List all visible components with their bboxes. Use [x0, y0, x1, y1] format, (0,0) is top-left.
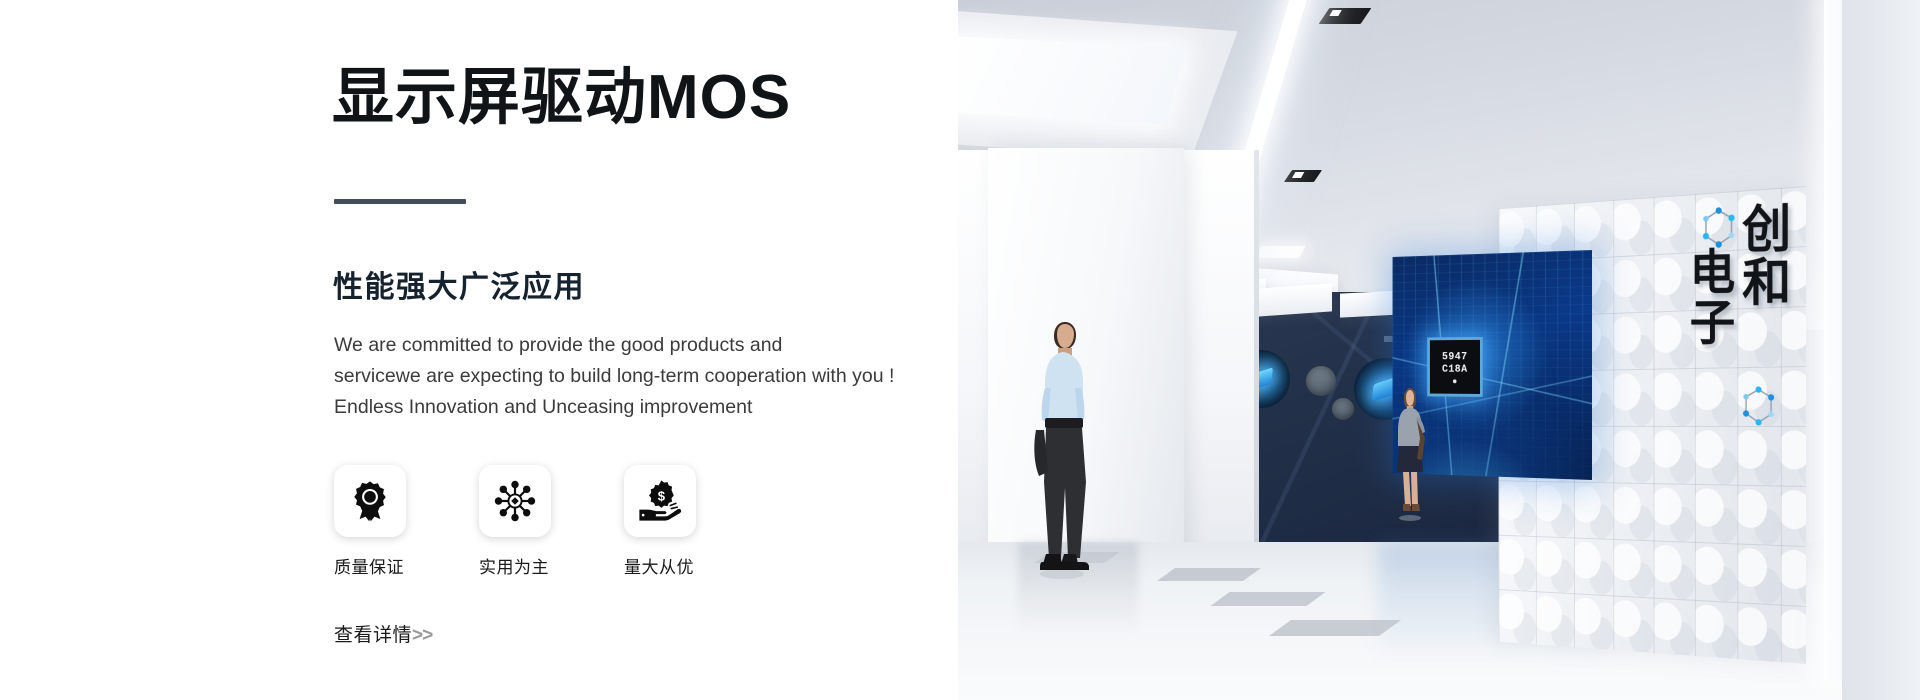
chip-graphic: 5947 C18A — [1427, 337, 1482, 397]
molecule-hexagon-icon — [1740, 384, 1778, 428]
feature-item-quality[interactable]: 质量保证 — [334, 465, 424, 578]
feature-label: 量大从优 — [624, 553, 714, 578]
right-wall — [1842, 0, 1920, 700]
network-hub-icon — [493, 479, 537, 523]
floor-tile — [1269, 620, 1401, 636]
standing-man-figure — [1028, 318, 1098, 580]
hero-banner: 显示屏驱动MOS 性能强大广泛应用 We are committed to pr… — [0, 0, 1920, 700]
body-line-1: We are committed to provide the good pro… — [334, 330, 894, 361]
feature-item-practical[interactable]: 实用为主 — [479, 465, 569, 578]
feature-label: 实用为主 — [479, 553, 569, 578]
award-ribbon-icon — [348, 479, 392, 523]
subheading: 性能强大广泛应用 — [333, 262, 585, 306]
hand-money-icon: $ — [638, 479, 682, 523]
ceiling-skylight-light — [958, 36, 1187, 125]
wall-display-circle — [1332, 398, 1354, 420]
walking-woman-figure — [1390, 386, 1430, 522]
page-title: 显示屏驱动MOS — [332, 62, 791, 133]
left-text-panel: 显示屏驱动MOS 性能强大广泛应用 We are committed to pr… — [0, 0, 960, 700]
chevron-double-right-icon: >> — [412, 625, 432, 646]
feature-list: 质量保证 — [334, 465, 714, 578]
floor-tile — [1157, 568, 1261, 581]
vertical-light-bar — [1824, 0, 1842, 680]
hanging-soffit-box — [1258, 283, 1332, 316]
chip-line-1: 5947 — [1442, 351, 1467, 364]
feature-tile[interactable] — [479, 465, 551, 537]
feature-item-bulk-discount[interactable]: $ 量大从优 — [624, 465, 714, 578]
feature-tile[interactable]: $ — [624, 465, 696, 537]
signage-column-left: 电子 — [1685, 246, 1731, 347]
ceiling-spotlight-icon — [1319, 8, 1372, 24]
view-details-label: 查看详情 — [334, 625, 412, 646]
signage-column-right: 创和 — [1736, 201, 1786, 308]
chip-line-2: C18A — [1442, 364, 1467, 377]
svg-text:$: $ — [658, 488, 666, 503]
body-copy: We are committed to provide the good pro… — [334, 330, 894, 423]
view-details-link[interactable]: 查看详情>> — [334, 620, 432, 647]
showroom-photo: 5947 C18A 创和 电子 — [958, 0, 1920, 700]
ceiling-spotlight-icon — [1284, 170, 1322, 182]
molecule-hexagon-icon — [1700, 205, 1738, 251]
wall-display-circle — [1306, 366, 1336, 396]
company-wall-signage: 创和 电子 — [1683, 196, 1814, 446]
body-line-2: servicewe are expecting to build long-te… — [334, 361, 894, 392]
ceiling-recessed-light — [1255, 246, 1306, 258]
title-divider — [334, 199, 466, 204]
chip-pin1-dot-icon — [1453, 379, 1457, 383]
floor-tile — [1210, 592, 1325, 606]
feature-tile[interactable] — [334, 465, 406, 537]
feature-label: 质量保证 — [334, 553, 424, 578]
body-line-3: Endless Innovation and Unceasing improve… — [334, 392, 894, 423]
wall-edge — [1254, 150, 1259, 570]
